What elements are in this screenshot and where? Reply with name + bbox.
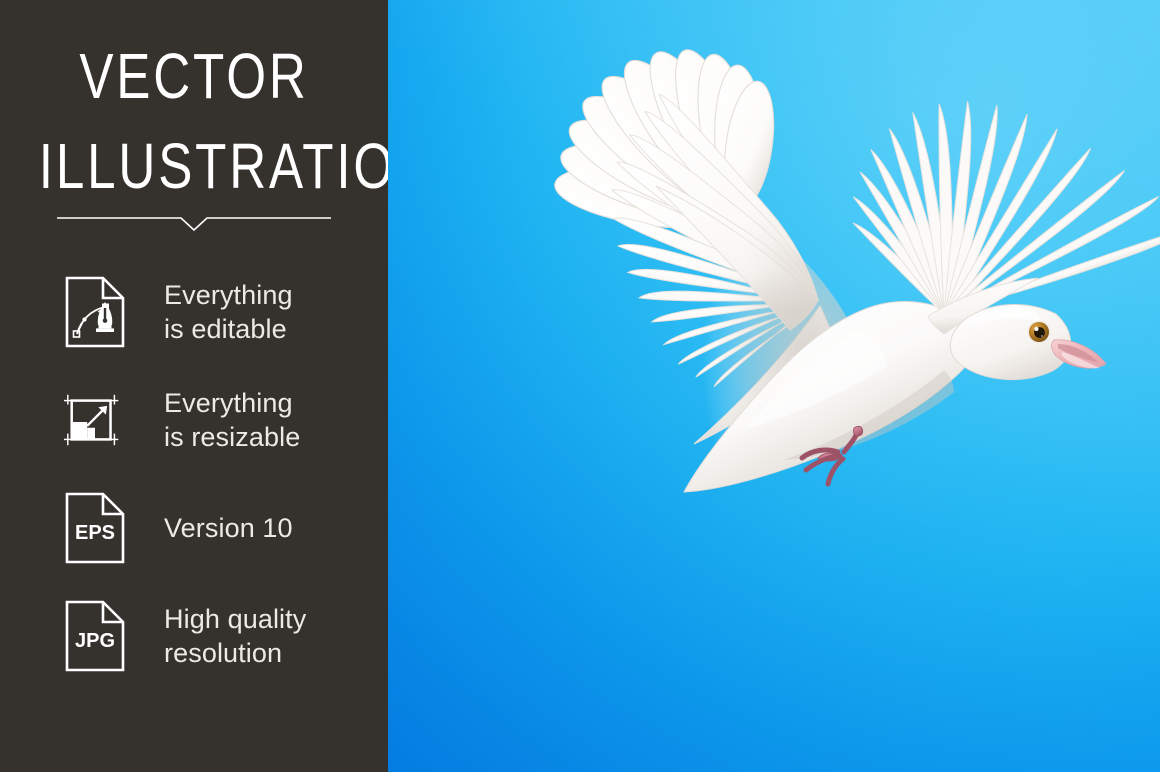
poster-canvas: VECTOR ILLUSTRATION [0, 0, 1160, 772]
white-dove-flying-illustration [388, 0, 1160, 772]
list-item-label: Everything is resizable [164, 386, 300, 454]
list-item: EPS Version 10 [0, 474, 388, 582]
eps-file-icon: EPS [62, 492, 128, 564]
jpg-file-icon-text: JPG [75, 630, 115, 652]
list-item-label: High quality resolution [164, 602, 306, 670]
list-item: Everything is resizable [0, 366, 388, 474]
page-title-primary: VECTOR [39, 44, 349, 108]
dove-right-wing [853, 101, 1160, 334]
dove-vector [388, 0, 1160, 772]
list-item-label: Version 10 [164, 511, 293, 545]
list-item: Everything is editable [0, 258, 388, 366]
feature-list: Everything is editable [0, 258, 388, 690]
eps-file-icon-text: EPS [75, 522, 115, 544]
title-block: VECTOR ILLUSTRATION [0, 44, 388, 198]
dove-eye [1028, 321, 1051, 344]
artwork-panel [388, 0, 1160, 772]
chevron-divider [57, 210, 331, 236]
info-panel: VECTOR ILLUSTRATION [0, 0, 388, 772]
list-item: JPG High quality resolution [0, 582, 388, 690]
page-title-secondary: ILLUSTRATION [39, 134, 349, 198]
jpg-file-icon: JPG [62, 600, 128, 672]
dove-head [950, 304, 1106, 379]
resize-crop-arrow-icon [62, 384, 128, 456]
list-item-label: Everything is editable [164, 278, 293, 346]
document-pen-tool-icon [62, 276, 128, 348]
